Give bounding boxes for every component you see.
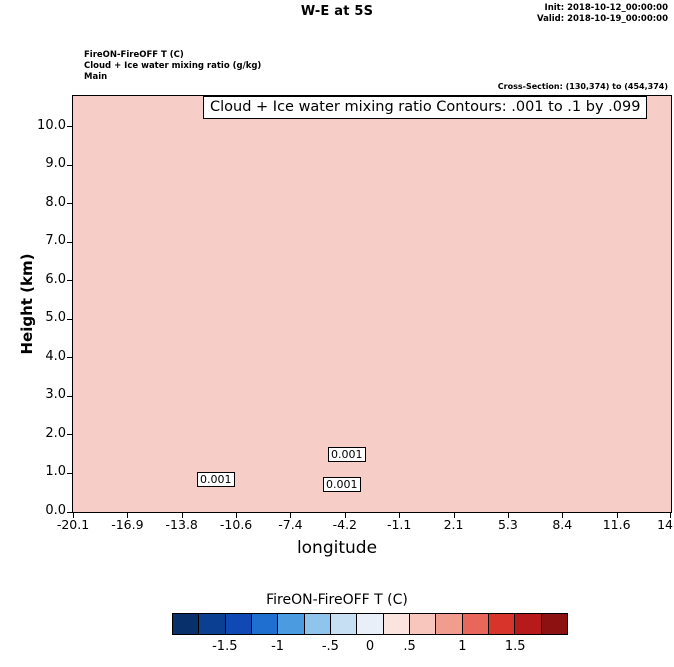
field-caption: FireON-FireOFF T (C) Cloud + Ice water m… xyxy=(84,50,261,83)
y-tick-label: 7.0 xyxy=(20,233,66,248)
colorbar-swatch xyxy=(251,614,277,634)
colorbar-tick-label: 0 xyxy=(350,639,390,654)
init-time: Init: 2018-10-12_00:00:00 xyxy=(537,3,668,14)
y-tick-mark xyxy=(67,512,72,513)
x-tick-label: -20.1 xyxy=(47,517,99,532)
x-axis-label: longitude xyxy=(0,538,674,558)
y-tick-mark xyxy=(67,280,72,281)
y-tick-label: 3.0 xyxy=(20,387,66,402)
y-tick-label: 4.0 xyxy=(20,349,66,364)
y-tick-mark xyxy=(67,396,72,397)
cross-section-label: Cross-Section: (130,374) to (454,374) xyxy=(498,82,668,91)
y-tick-mark xyxy=(67,203,72,204)
colorbar-swatch xyxy=(225,614,251,634)
x-tick-mark xyxy=(345,513,346,518)
x-tick-label: -7.4 xyxy=(264,517,316,532)
colorbar-swatch xyxy=(462,614,488,634)
contour-label-2: 0.001 xyxy=(328,447,366,462)
colorbar-swatch xyxy=(488,614,514,634)
colorbar-swatch xyxy=(435,614,461,634)
x-tick-mark xyxy=(290,513,291,518)
colorbar-swatch xyxy=(514,614,540,634)
contour-label-1: 0.001 xyxy=(323,477,361,492)
x-tick-mark xyxy=(562,513,563,518)
colorbar-title: FireON-FireOFF T (C) xyxy=(0,592,674,608)
colorbar-swatch xyxy=(198,614,224,634)
y-tick-mark xyxy=(67,473,72,474)
colorbar-swatch xyxy=(409,614,435,634)
y-tick-label: 5.0 xyxy=(20,310,66,325)
y-tick-label: 2.0 xyxy=(20,426,66,441)
x-tick-label: 14.8 xyxy=(645,517,674,532)
y-axis-label: Height (km) xyxy=(18,244,36,364)
y-tick-mark xyxy=(67,165,72,166)
x-tick-mark xyxy=(617,513,618,518)
colorbar-swatch xyxy=(356,614,382,634)
y-tick-mark xyxy=(67,242,72,243)
contour-label-0: 0.001 xyxy=(197,472,235,487)
colorbar xyxy=(172,613,568,635)
y-tick-label: 1.0 xyxy=(20,464,66,479)
y-tick-label: 9.0 xyxy=(20,156,66,171)
y-tick-mark xyxy=(67,319,72,320)
colorbar-swatch xyxy=(541,614,567,634)
colorbar-tick-label: 1.5 xyxy=(495,639,535,654)
x-tick-label: -16.9 xyxy=(101,517,153,532)
colorbar-tick-label: -1 xyxy=(258,639,298,654)
y-tick-label: 10.0 xyxy=(20,118,66,133)
x-tick-label: -4.2 xyxy=(319,517,371,532)
x-tick-label: 2.1 xyxy=(428,517,480,532)
x-tick-mark xyxy=(454,513,455,518)
x-tick-mark xyxy=(73,513,74,518)
x-tick-label: -10.6 xyxy=(210,517,262,532)
colorbar-tick-label: .5 xyxy=(390,639,430,654)
x-tick-label: 5.3 xyxy=(482,517,534,532)
colorbar-tick-label: -.5 xyxy=(310,639,350,654)
colorbar-swatch xyxy=(277,614,303,634)
x-tick-label: 11.6 xyxy=(591,517,643,532)
x-tick-mark xyxy=(127,513,128,518)
y-tick-mark xyxy=(67,434,72,435)
colorbar-swatch xyxy=(383,614,409,634)
x-tick-label: 8.4 xyxy=(536,517,588,532)
y-tick-label: 8.0 xyxy=(20,195,66,210)
caption-line-2: Cloud + Ice water mixing ratio (g/kg) xyxy=(84,61,261,72)
x-tick-mark xyxy=(236,513,237,518)
colorbar-swatch xyxy=(173,614,198,634)
x-tick-mark xyxy=(670,513,671,518)
colorbar-tick-label: 1 xyxy=(442,639,482,654)
colorbar-swatch xyxy=(330,614,356,634)
colorbar-swatch xyxy=(304,614,330,634)
caption-line-1: FireON-FireOFF T (C) xyxy=(84,50,261,61)
y-tick-mark xyxy=(67,357,72,358)
x-tick-label: -1.1 xyxy=(373,517,425,532)
x-tick-label: -13.8 xyxy=(156,517,208,532)
caption-line-3: Main xyxy=(84,72,261,83)
y-tick-label: 0.0 xyxy=(20,503,66,518)
contour-banner: Cloud + Ice water mixing ratio Contours:… xyxy=(203,96,647,119)
y-tick-mark xyxy=(67,126,72,127)
y-tick-label: 6.0 xyxy=(20,272,66,287)
x-tick-mark xyxy=(182,513,183,518)
heatmap-plot: 0.001 0.001 0.001 xyxy=(72,95,672,513)
init-valid-times: Init: 2018-10-12_00:00:00 Valid: 2018-10… xyxy=(537,3,668,25)
x-tick-mark xyxy=(399,513,400,518)
colorbar-tick-label: -1.5 xyxy=(205,639,245,654)
heatmap-canvas xyxy=(73,96,671,512)
valid-time: Valid: 2018-10-19_00:00:00 xyxy=(537,14,668,25)
x-tick-mark xyxy=(508,513,509,518)
